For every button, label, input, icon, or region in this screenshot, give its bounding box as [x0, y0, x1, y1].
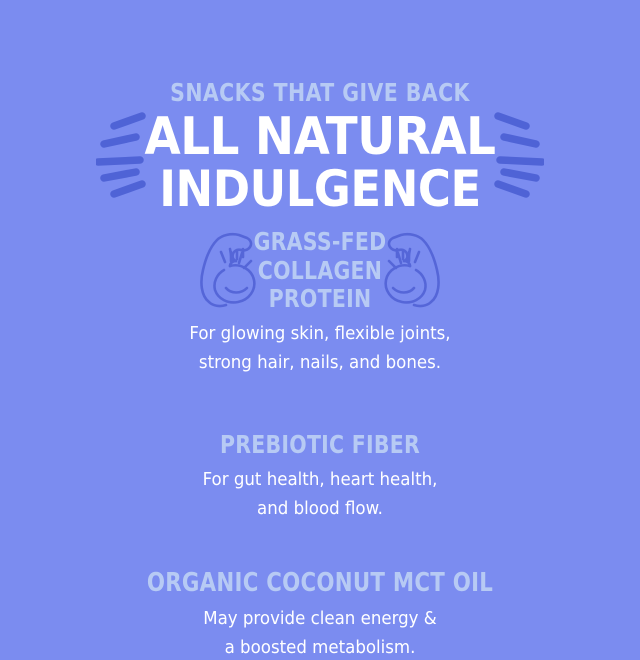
benefit-body-line-1: May provide clean energy & — [16, 608, 624, 631]
eyebrow-text: SNACKS THAT GIVE BACK — [58, 80, 583, 105]
promo-poster: SNACKS THAT GIVE BACK ALL NATURAL INDULG… — [0, 0, 640, 640]
benefit-body-line-1: For gut health, heart health, — [16, 469, 624, 492]
benefit-body-line-2: a boosted metabolism. — [16, 637, 624, 660]
benefit-heading: PREBIOTIC FIBER — [58, 431, 583, 460]
headline-line-2: INDULGENCE — [32, 165, 608, 214]
headline: ALL NATURAL INDULGENCE — [0, 112, 640, 214]
headline-line-1: ALL NATURAL — [32, 112, 608, 163]
poster-header: SNACKS THAT GIVE BACK ALL NATURAL INDULG… — [0, 80, 640, 214]
benefit-heading-line-3: PROTEIN — [58, 285, 583, 314]
benefit-item-collagen: GRASS-FED COLLAGEN PROTEIN For glowing s… — [0, 228, 640, 375]
benefit-heading-row: GRASS-FED COLLAGEN PROTEIN — [0, 228, 640, 314]
benefit-heading-line-1: GRASS-FED — [58, 228, 583, 257]
benefit-body-line-2: strong hair, nails, and bones. — [16, 352, 624, 375]
benefit-body-line-2: and blood flow. — [16, 498, 624, 521]
benefit-heading-line-2: COLLAGEN — [58, 257, 583, 286]
benefits-list: GRASS-FED COLLAGEN PROTEIN For glowing s… — [0, 228, 640, 660]
benefit-body-line-1: For glowing skin, flexible joints, — [16, 323, 624, 346]
benefit-item-fiber: PREBIOTIC FIBER For gut health, heart he… — [0, 431, 640, 521]
benefit-heading: ORGANIC COCONUT MCT OIL — [58, 569, 583, 599]
benefit-item-mct-oil: ORGANIC COCONUT MCT OIL May provide clea… — [0, 569, 640, 660]
